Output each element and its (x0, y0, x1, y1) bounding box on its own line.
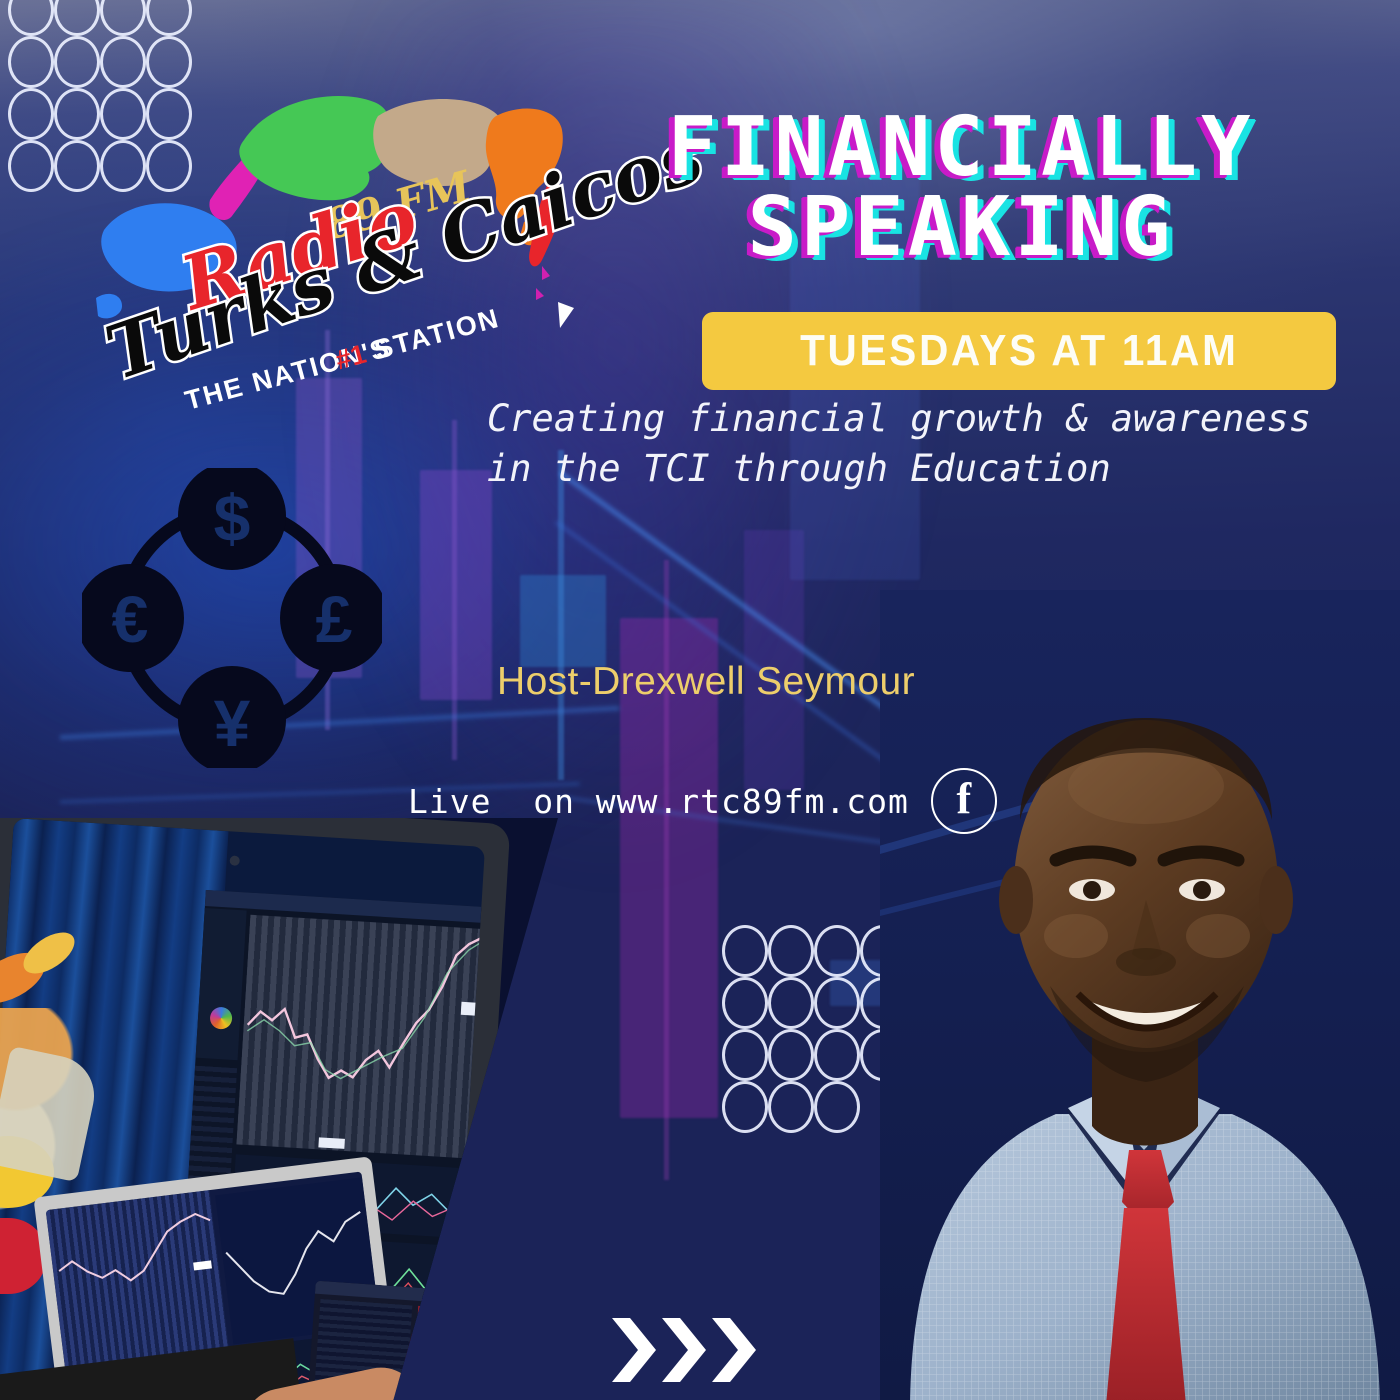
svg-text:$: $ (214, 481, 251, 555)
island-dot-b (536, 288, 544, 300)
logo-station-word: STATION (371, 303, 503, 365)
chevron-arrows (612, 1318, 756, 1382)
chevron-right-icon (612, 1318, 656, 1382)
show-title-line2: SPEAKING (556, 188, 1366, 268)
poster-canvas: 89 FM Radio Turks & Caicos THE NATION'S … (0, 0, 1400, 1400)
svg-text:£: £ (316, 582, 353, 656)
chevron-right-icon (662, 1318, 706, 1382)
dot-grid-center (722, 925, 906, 1133)
host-portrait-photo (880, 590, 1400, 1400)
facebook-icon[interactable]: f (931, 768, 997, 834)
facebook-glyph: f (957, 777, 972, 821)
show-tagline: Creating financial growth & awareness in… (487, 394, 1387, 495)
live-url-label: Live on www.rtc89fm.com (408, 782, 909, 821)
chevron-right-icon (712, 1318, 756, 1382)
radio-turks-caicos-logo: 89 FM Radio Turks & Caicos THE NATION'S … (92, 80, 562, 420)
schedule-badge-label: TUESDAYS AT 11AM (800, 326, 1239, 376)
currency-exchange-icon: $ € £ ¥ (82, 468, 382, 768)
show-title: FINANCIALLY SPEAKING (556, 108, 1366, 267)
show-title-line1: FINANCIALLY (556, 108, 1366, 188)
live-stream-row: Live on www.rtc89fm.com f (408, 768, 997, 834)
schedule-badge: TUESDAYS AT 11AM (702, 312, 1336, 390)
svg-text:€: € (112, 582, 149, 656)
island-dot-a (542, 266, 550, 280)
svg-text:¥: ¥ (214, 686, 251, 760)
host-name-label: Host-Drexwell Seymour (497, 660, 915, 704)
